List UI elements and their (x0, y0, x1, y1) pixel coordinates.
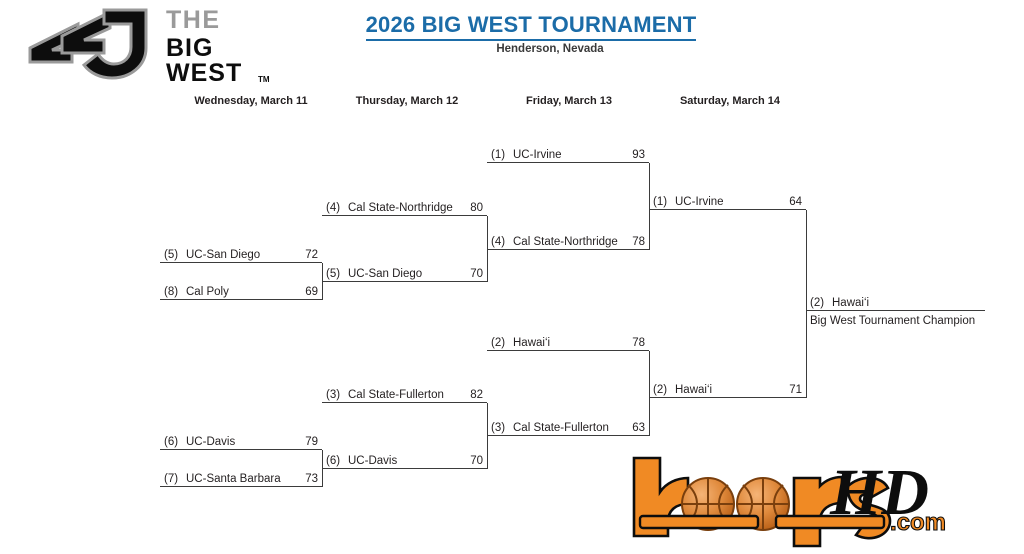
logo-baseline-bar-left (640, 516, 758, 528)
seed: (5) (164, 249, 178, 261)
seed: (2) (810, 297, 824, 309)
team-name: Hawai‘i (832, 297, 869, 309)
seed: (8) (164, 286, 178, 298)
slot-underline (649, 209, 806, 210)
team-name: UC-Irvine (513, 149, 562, 161)
bracket-slot-r2-g1-bottom[interactable]: (5) UC-San Diego 70 (322, 262, 487, 282)
seed: (3) (326, 389, 340, 401)
team-name: Cal State-Fullerton (513, 422, 609, 434)
bracket-slot-r3-g2-bottom[interactable]: (3) Cal State-Fullerton 63 (487, 416, 649, 436)
bracket-connector-r2-g2 (487, 403, 488, 469)
team-name: UC-San Diego (186, 249, 260, 261)
hoopshd-logo: HD .com (626, 452, 998, 548)
team-name: Cal State-Northridge (348, 202, 453, 214)
team-score: 93 (632, 149, 645, 161)
team-score: 78 (632, 337, 645, 349)
team-name: UC-San Diego (348, 268, 422, 280)
bracket-slot-final-bottom[interactable]: (2) Hawai‘i 71 (649, 378, 806, 398)
team-score: 63 (632, 422, 645, 434)
bracket-slot-r1-g1-bottom[interactable]: (8) Cal Poly 69 (160, 280, 322, 300)
team-name: Cal Poly (186, 286, 229, 298)
champion-label: Big West Tournament Champion (810, 315, 975, 327)
slot-underline (322, 215, 487, 216)
seed: (2) (653, 384, 667, 396)
seed: (7) (164, 473, 178, 485)
seed: (1) (491, 149, 505, 161)
team-name: Cal State-Northridge (513, 236, 618, 248)
slot-underline (649, 397, 806, 398)
team-score: 80 (470, 202, 483, 214)
slot-underline (806, 310, 985, 311)
team-score: 70 (470, 455, 483, 467)
bracket-slot-r1-g2-bottom[interactable]: (7) UC-Santa Barbara 73 (160, 467, 322, 487)
team-name: Hawai‘i (675, 384, 712, 396)
slot-underline (322, 468, 487, 469)
seed: (5) (326, 268, 340, 280)
slot-underline (487, 435, 649, 436)
slot-underline (160, 449, 322, 450)
team-name: UC-Santa Barbara (186, 473, 281, 485)
seed: (1) (653, 196, 667, 208)
team-score: 72 (305, 249, 318, 261)
team-score: 69 (305, 286, 318, 298)
team-name: Cal State-Fullerton (348, 389, 444, 401)
bracket-slot-r1-g2-top[interactable]: (6) UC-Davis 79 (160, 430, 322, 450)
seed: (6) (326, 455, 340, 467)
logo-text-com: .com (890, 509, 946, 536)
slot-underline (160, 486, 322, 487)
team-name: UC-Davis (348, 455, 397, 467)
seed: (4) (326, 202, 340, 214)
team-score: 79 (305, 436, 318, 448)
bracket-slot-r3-g2-top[interactable]: (2) Hawai‘i 78 (487, 331, 649, 351)
seed: (3) (491, 422, 505, 434)
seed: (4) (491, 236, 505, 248)
bracket-slot-final-top[interactable]: (1) UC-Irvine 64 (649, 190, 806, 210)
slot-underline (160, 299, 322, 300)
slot-underline (322, 281, 487, 282)
team-name: Hawai‘i (513, 337, 550, 349)
bracket-slot-r2-g1-top[interactable]: (4) Cal State-Northridge 80 (322, 196, 487, 216)
team-score: 64 (789, 196, 802, 208)
slot-underline (487, 162, 649, 163)
slot-underline (322, 402, 487, 403)
team-score: 70 (470, 268, 483, 280)
bracket-slot-r2-g2-top[interactable]: (3) Cal State-Fullerton 82 (322, 383, 487, 403)
slot-underline (160, 262, 322, 263)
bracket-slot-champion[interactable]: (2) Hawai‘i (806, 291, 985, 311)
slot-underline (487, 249, 649, 250)
seed: (2) (491, 337, 505, 349)
team-name: UC-Irvine (675, 196, 724, 208)
slot-underline (487, 350, 649, 351)
seed: (6) (164, 436, 178, 448)
team-score: 82 (470, 389, 483, 401)
team-score: 73 (305, 473, 318, 485)
team-score: 78 (632, 236, 645, 248)
bracket-slot-r3-g1-top[interactable]: (1) UC-Irvine 93 (487, 143, 649, 163)
bracket-slot-r2-g2-bottom[interactable]: (6) UC-Davis 70 (322, 449, 487, 469)
team-name: UC-Davis (186, 436, 235, 448)
bracket-slot-r3-g1-bottom[interactable]: (4) Cal State-Northridge 78 (487, 230, 649, 250)
team-score: 71 (789, 384, 802, 396)
bracket-slot-r1-g1-top[interactable]: (5) UC-San Diego 72 (160, 243, 322, 263)
